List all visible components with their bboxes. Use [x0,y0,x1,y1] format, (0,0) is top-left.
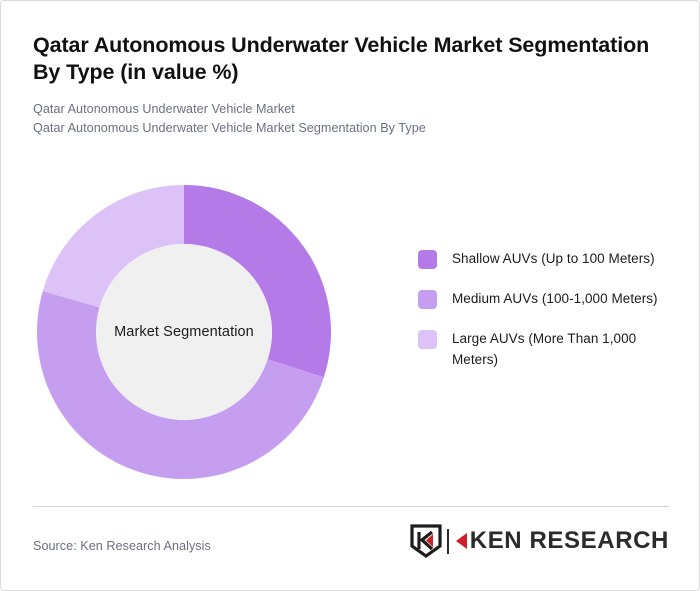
subtitle-line-1: Qatar Autonomous Underwater Vehicle Mark… [33,100,653,119]
page-title: Qatar Autonomous Underwater Vehicle Mark… [33,32,653,86]
ken-research-shield-k-icon [410,524,442,558]
legend-swatch-icon [418,250,437,269]
legend-item-label: Large AUVs (More Than 1,000 Meters) [452,328,676,370]
donut-hole [96,244,272,420]
legend-item[interactable]: Shallow AUVs (Up to 100 Meters) [418,248,676,269]
legend-item-label: Shallow AUVs (Up to 100 Meters) [452,248,655,269]
logo-wordmark: KEN RESEARCH [470,529,669,553]
legend-item[interactable]: Medium AUVs (100-1,000 Meters) [418,288,676,309]
legend-swatch-icon [418,290,437,309]
donut-svg [36,182,332,482]
legend-item[interactable]: Large AUVs (More Than 1,000 Meters) [418,328,676,370]
subtitle-line-2: Qatar Autonomous Underwater Vehicle Mark… [33,119,653,138]
footer-divider [33,506,669,507]
source-note: Source: Ken Research Analysis [33,539,211,553]
logo-triangle-icon [456,533,467,549]
chart-legend: Shallow AUVs (Up to 100 Meters) Medium A… [418,248,676,389]
legend-swatch-icon [418,330,437,349]
chart-card: Qatar Autonomous Underwater Vehicle Mark… [0,0,700,591]
legend-item-label: Medium AUVs (100-1,000 Meters) [452,288,658,309]
ken-research-logo: KEN RESEARCH [410,524,669,558]
chart-area: Market Segmentation Shallow AUVs (Up to … [1,166,700,496]
logo-separator-bar [447,529,449,554]
header: Qatar Autonomous Underwater Vehicle Mark… [33,32,653,138]
donut-chart: Market Segmentation [36,182,332,482]
subtitle-block: Qatar Autonomous Underwater Vehicle Mark… [33,100,653,138]
